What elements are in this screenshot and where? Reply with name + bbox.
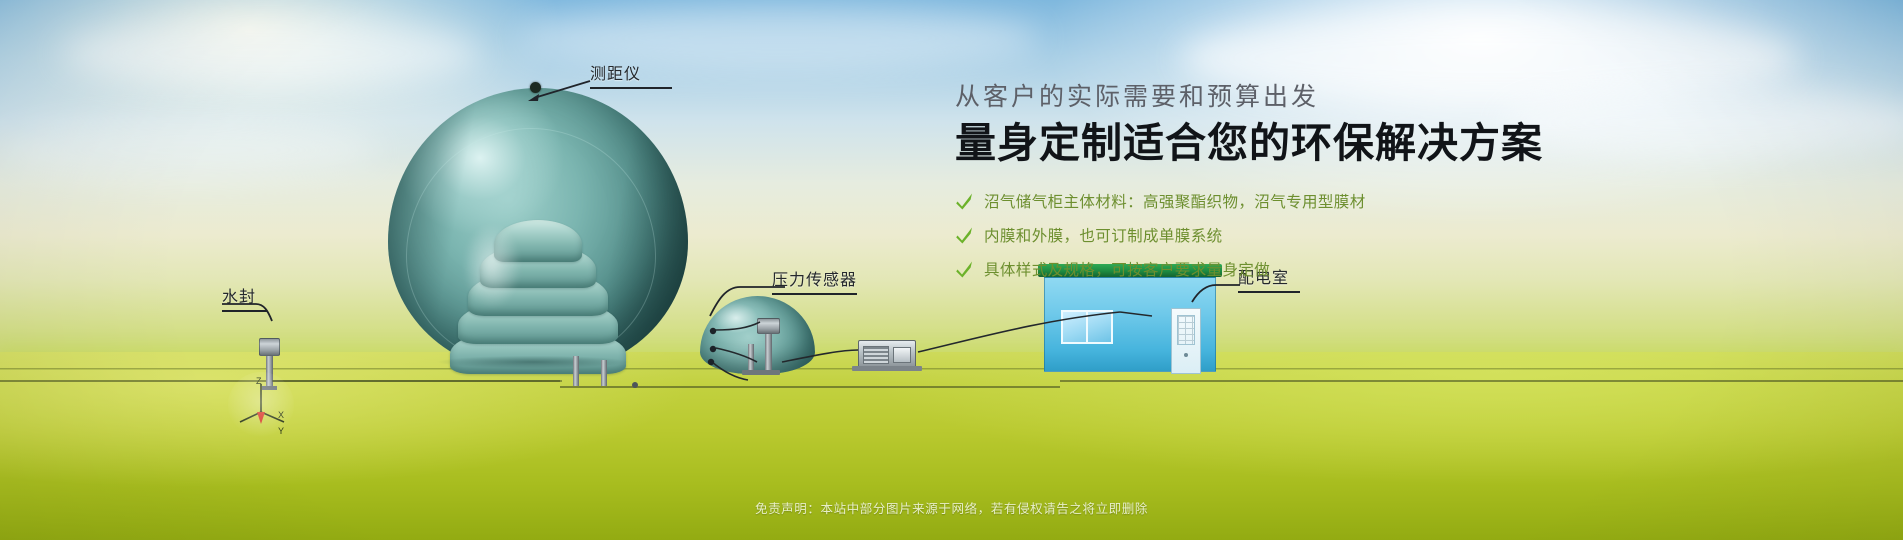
sensor-base <box>742 370 780 375</box>
pressure-sensor-head <box>757 318 780 334</box>
door-grille <box>1177 315 1195 345</box>
cloud-shape <box>60 18 480 88</box>
hero-eyebrow: 从客户的实际需要和预算出发 <box>955 82 1655 113</box>
bullet-text: 具体样式及规格，可按客户要求量身定做 <box>984 258 1270 280</box>
blower-panel <box>893 347 911 363</box>
check-tick-icon <box>955 226 974 245</box>
callout-pressure-sensor-bar <box>772 293 857 295</box>
callout-water-seal-label: 水封 <box>222 283 267 307</box>
blower-base <box>852 366 922 371</box>
pressure-sensor-riser <box>765 330 772 372</box>
blower-unit <box>858 340 916 368</box>
callout-rangefinder: 测距仪 <box>590 60 672 89</box>
hero-copy: 从客户的实际需要和预算出发 量身定制适合您的环保解决方案 沼气储气柜主体材料：高… <box>955 82 1655 292</box>
axis-gizmo: Z X Y <box>228 372 294 438</box>
list-item: 内膜和外膜，也可订制成单膜系统 <box>955 224 1655 246</box>
vent-riser <box>573 356 579 386</box>
ground-pipe-line <box>1060 380 1903 382</box>
bullet-text: 内膜和外膜，也可订制成单膜系统 <box>984 224 1223 246</box>
water-seal-valve <box>259 338 280 356</box>
hero-bullet-list: 沼气储气柜主体材料：高强聚酯织物，沼气专用型膜材 内膜和外膜，也可订制成单膜系统… <box>955 190 1655 280</box>
list-item: 沼气储气柜主体材料：高强聚酯织物，沼气专用型膜材 <box>955 190 1655 212</box>
bullet-text: 沼气储气柜主体材料：高强聚酯织物，沼气专用型膜材 <box>984 190 1366 212</box>
hero-banner: 测距仪 水封 压力传感器 配电室 Z X Y <box>0 0 1903 540</box>
building-window <box>1061 310 1113 344</box>
sensor-secondary-riser <box>748 344 754 372</box>
pipe-joint-node <box>632 382 638 388</box>
blower-vent <box>863 346 889 364</box>
ground-baseline <box>0 368 1903 369</box>
callout-water-seal: 水封 <box>222 283 267 312</box>
check-tick-icon <box>955 260 974 279</box>
callout-rangefinder-bar <box>590 87 672 89</box>
callout-water-seal-bar <box>222 310 267 312</box>
vent-riser <box>601 360 607 386</box>
pipe-segment <box>272 380 562 382</box>
inner-membrane <box>448 214 628 374</box>
callout-pressure-sensor-label: 压力传感器 <box>772 266 857 290</box>
gas-holder-dome <box>388 88 688 373</box>
building-door <box>1171 308 1201 374</box>
rangefinder-sensor-dot <box>530 82 541 93</box>
door-knob <box>1184 353 1188 357</box>
check-tick-icon <box>955 192 974 211</box>
cloud-shape <box>0 120 380 180</box>
callout-rangefinder-label: 测距仪 <box>590 60 672 84</box>
disclaimer-text: 免责声明：本站中部分图片来源于网络，若有侵权请告之将立即删除 <box>0 498 1903 517</box>
list-item: 具体样式及规格，可按客户要求量身定做 <box>955 258 1655 280</box>
callout-pressure-sensor: 压力传感器 <box>772 266 857 295</box>
dome-base-shadow <box>410 354 656 370</box>
hero-headline: 量身定制适合您的环保解决方案 <box>955 119 1655 168</box>
